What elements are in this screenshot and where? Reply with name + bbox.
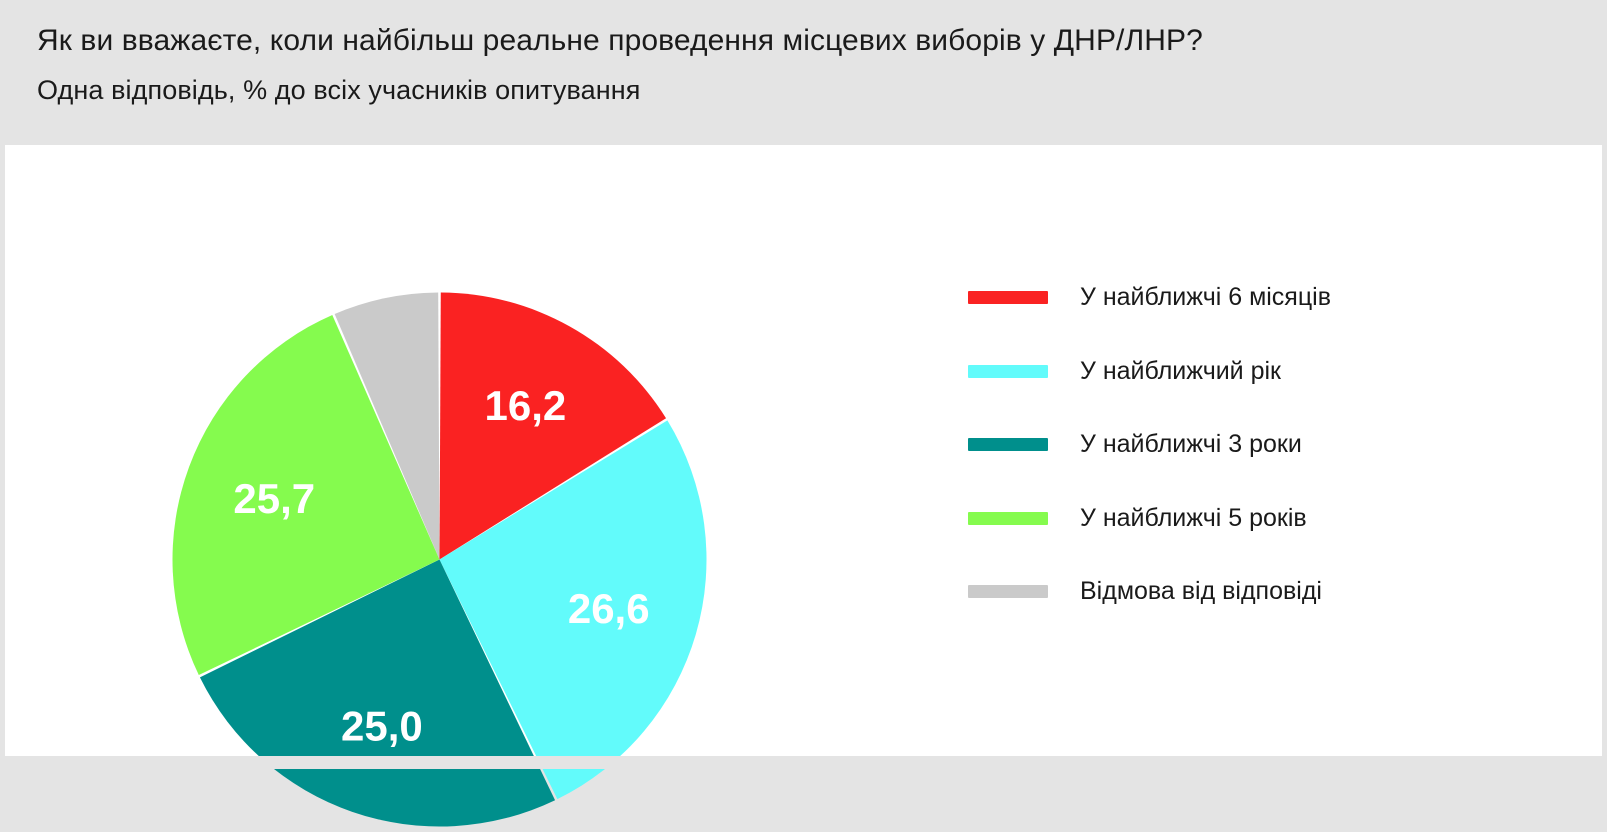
legend-swatch-icon-1 — [968, 365, 1048, 378]
legend-label-1: У найближчий рік — [1080, 353, 1281, 389]
pie-slice-value-0: 16,2 — [484, 382, 566, 429]
panel-bottom-strip — [0, 756, 1607, 769]
legend-item-2[interactable]: У найближчі 3 роки — [968, 412, 1388, 486]
chart-header: Як ви вважаєте, коли найбільш реальне пр… — [0, 0, 1607, 143]
legend-swatch-icon-0 — [968, 291, 1048, 304]
pie-slice-value-3: 25,7 — [233, 475, 315, 522]
legend-swatch-icon-4 — [968, 585, 1048, 598]
page-subtitle: Одна відповідь, % до всіх учасників опит… — [37, 72, 641, 108]
page-title: Як ви вважаєте, коли найбільш реальне пр… — [37, 21, 1203, 61]
legend-item-0[interactable]: У найближчі 6 місяців — [968, 265, 1388, 339]
legend-label-0: У найближчі 6 місяців — [1080, 279, 1331, 315]
legend-item-1[interactable]: У найближчий рік — [968, 339, 1388, 413]
legend-label-4: Відмова від відповіді — [1080, 573, 1322, 609]
pie-chart: 16,226,625,025,7 — [167, 287, 712, 832]
pie-chart-svg: 16,226,625,025,7 — [167, 287, 712, 832]
legend-swatch-icon-2 — [968, 438, 1048, 451]
chart-panel: 16,226,625,025,7 У найближчі 6 місяців У… — [5, 145, 1602, 756]
pie-slice-group — [172, 293, 706, 827]
pie-slice-value-2: 25,0 — [341, 703, 423, 750]
legend-label-2: У найближчі 3 роки — [1080, 426, 1302, 462]
legend-label-3: У найближчі 5 років — [1080, 500, 1307, 536]
legend-item-3[interactable]: У найближчі 5 років — [968, 486, 1388, 560]
legend-item-4[interactable]: Відмова від відповіді — [968, 559, 1388, 633]
chart-page: Як ви вважаєте, коли найбільш реальне пр… — [0, 0, 1607, 769]
legend-swatch-icon-3 — [968, 512, 1048, 525]
chart-legend: У найближчі 6 місяців У найближчий рік У… — [968, 265, 1388, 633]
pie-slice-value-1: 26,6 — [568, 585, 650, 632]
